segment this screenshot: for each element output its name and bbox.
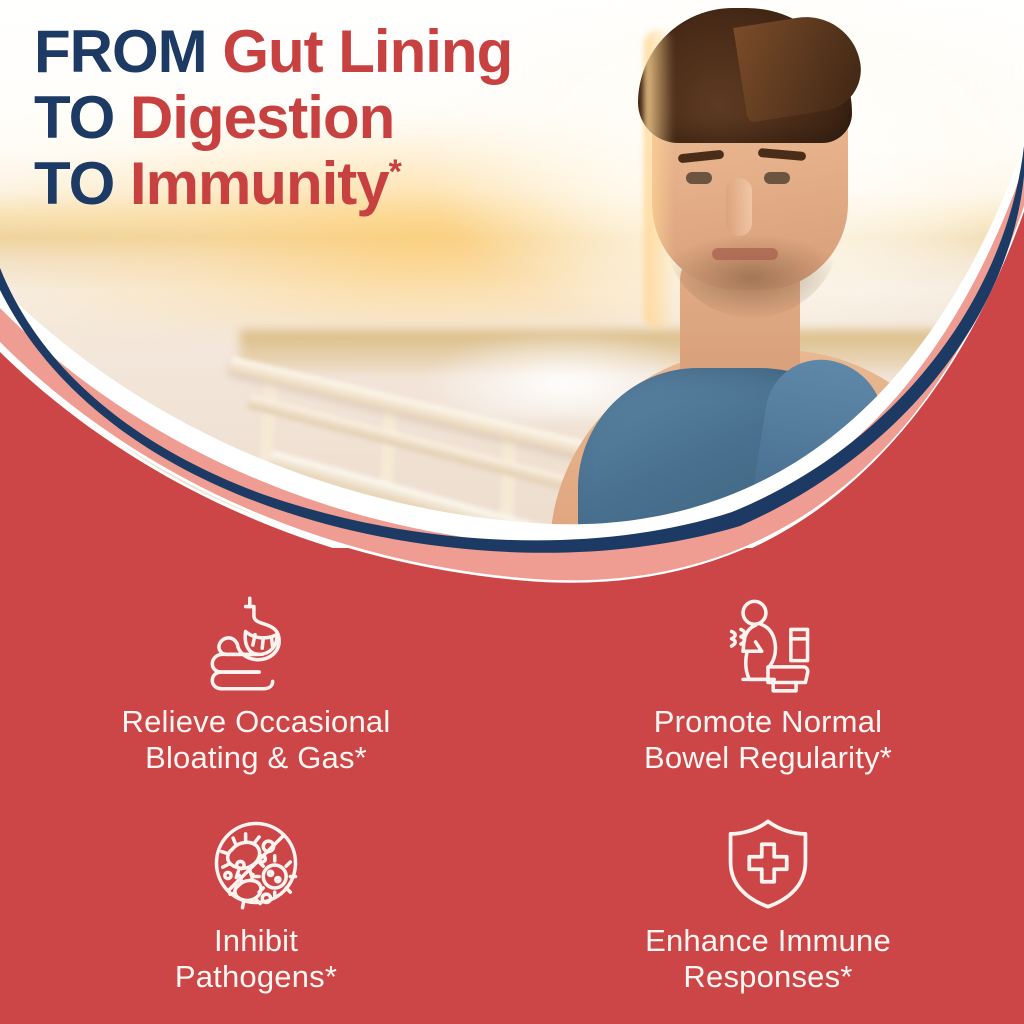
headline-asterisk: * [389, 153, 401, 191]
benefit-item: Enhance Immune Responses* [512, 805, 1024, 1024]
headline-line-1: FROM Gut Lining [34, 22, 634, 82]
benefit-label-line-2: Pathogens* [175, 959, 337, 994]
headline-line-3: TO Immunity* [34, 154, 634, 214]
eye-left [686, 172, 712, 184]
benefit-item: Promote Normal Bowel Regularity* [512, 586, 1024, 805]
headline-line-2: TO Digestion [34, 88, 634, 148]
benefit-label: Promote Normal Bowel Regularity* [644, 704, 892, 776]
promo-graphic: FROM Gut Lining TO Digestion TO Immunity… [0, 0, 1024, 1024]
benefit-label-line-2: Bowel Regularity* [644, 740, 892, 775]
headline-line-2-prefix: TO [34, 84, 114, 151]
stomach-intestines-icon [204, 592, 308, 696]
rim-light [644, 30, 674, 330]
benefits-grid: Relieve Occasional Bloating & Gas* [0, 586, 1024, 1024]
benefit-label: Inhibit Pathogens* [175, 923, 337, 995]
headline-line-1-prefix: FROM [34, 18, 207, 85]
benefit-label-line-1: Relieve Occasional [122, 704, 391, 739]
benefit-label: Relieve Occasional Bloating & Gas* [122, 704, 391, 776]
benefit-label-line-1: Inhibit [214, 923, 298, 958]
benefit-label: Enhance Immune Responses* [645, 923, 891, 995]
benefit-label-line-2: Bloating & Gas* [145, 740, 367, 775]
benefit-label-line-1: Promote Normal [654, 704, 882, 739]
benefit-item: Inhibit Pathogens* [0, 805, 512, 1024]
no-pathogens-icon [204, 811, 308, 915]
headline: FROM Gut Lining TO Digestion TO Immunity… [34, 22, 634, 220]
benefit-label-line-2: Responses* [683, 959, 852, 994]
person-on-toilet-icon [716, 592, 820, 696]
eye-right [764, 172, 790, 184]
nose [726, 178, 752, 236]
mouth [712, 248, 778, 260]
shield-cross-icon [716, 811, 820, 915]
benefit-item: Relieve Occasional Bloating & Gas* [0, 586, 512, 805]
headline-line-3-prefix: TO [34, 150, 114, 217]
benefit-label-line-1: Enhance Immune [645, 923, 891, 958]
headline-line-3-accent: Immunity [130, 150, 389, 217]
headline-line-2-accent: Digestion [130, 84, 394, 151]
headline-line-1-accent: Gut Lining [222, 18, 512, 85]
